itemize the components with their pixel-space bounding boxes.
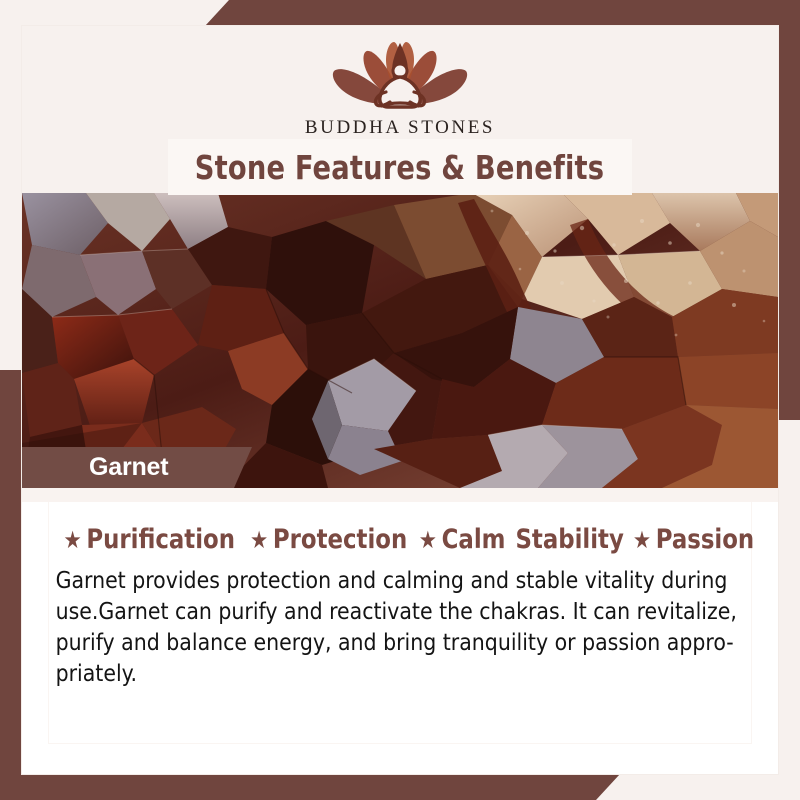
keyword-stability: Stability xyxy=(515,524,623,555)
corner-band-top-right xyxy=(205,0,800,26)
keyword-passion: ★ Passion xyxy=(633,524,754,555)
description-line: priately. xyxy=(56,658,729,689)
photo-separator xyxy=(22,488,778,502)
star-icon: ★ xyxy=(63,528,81,552)
stone-info-card: BUDDHA STONES Stone Features & Benefits xyxy=(0,0,800,800)
stone-name-banner: Garnet xyxy=(22,447,252,488)
keyword-calm: ★ Calm xyxy=(419,524,506,555)
keyword-label: Calm xyxy=(441,524,505,555)
description-line: use.Garnet can purify and reactivate the… xyxy=(56,596,729,627)
brand-name: BUDDHA STONES xyxy=(305,117,495,139)
description-line: purify and balance energy, and bring tra… xyxy=(56,627,729,658)
keyword-label: Protection xyxy=(273,524,407,555)
keyword-label: Stability xyxy=(515,524,623,555)
keyword-label: Purification xyxy=(86,524,235,555)
edge-strip-left xyxy=(0,370,22,800)
stone-name: Garnet xyxy=(89,453,168,482)
keyword-label: Passion xyxy=(656,524,754,555)
description-line: Garnet provides protection and calming a… xyxy=(56,565,729,596)
corner-band-bottom-left xyxy=(0,774,620,800)
star-icon: ★ xyxy=(419,528,437,552)
star-icon: ★ xyxy=(250,528,268,552)
keyword-purification: ★ Purification xyxy=(63,524,235,555)
stone-description: Garnet provides protection and calming a… xyxy=(42,565,737,689)
keyword-protection: ★ Protection xyxy=(250,524,407,555)
star-icon: ★ xyxy=(633,528,651,552)
brand-logo: BUDDHA STONES xyxy=(305,30,495,139)
benefit-keywords: ★ Purification ★ Protection ★ Calm Stabi… xyxy=(42,524,758,555)
lotus-meditation-figure-icon xyxy=(316,30,484,114)
page-title: Stone Features & Benefits xyxy=(195,148,604,187)
edge-strip-right xyxy=(778,0,800,420)
stone-content: ★ Purification ★ Protection ★ Calm Stabi… xyxy=(22,502,778,689)
stone-photo xyxy=(22,193,778,488)
garnet-crystal-cluster-illustration xyxy=(22,193,778,488)
section-title-band: Stone Features & Benefits xyxy=(168,139,632,195)
